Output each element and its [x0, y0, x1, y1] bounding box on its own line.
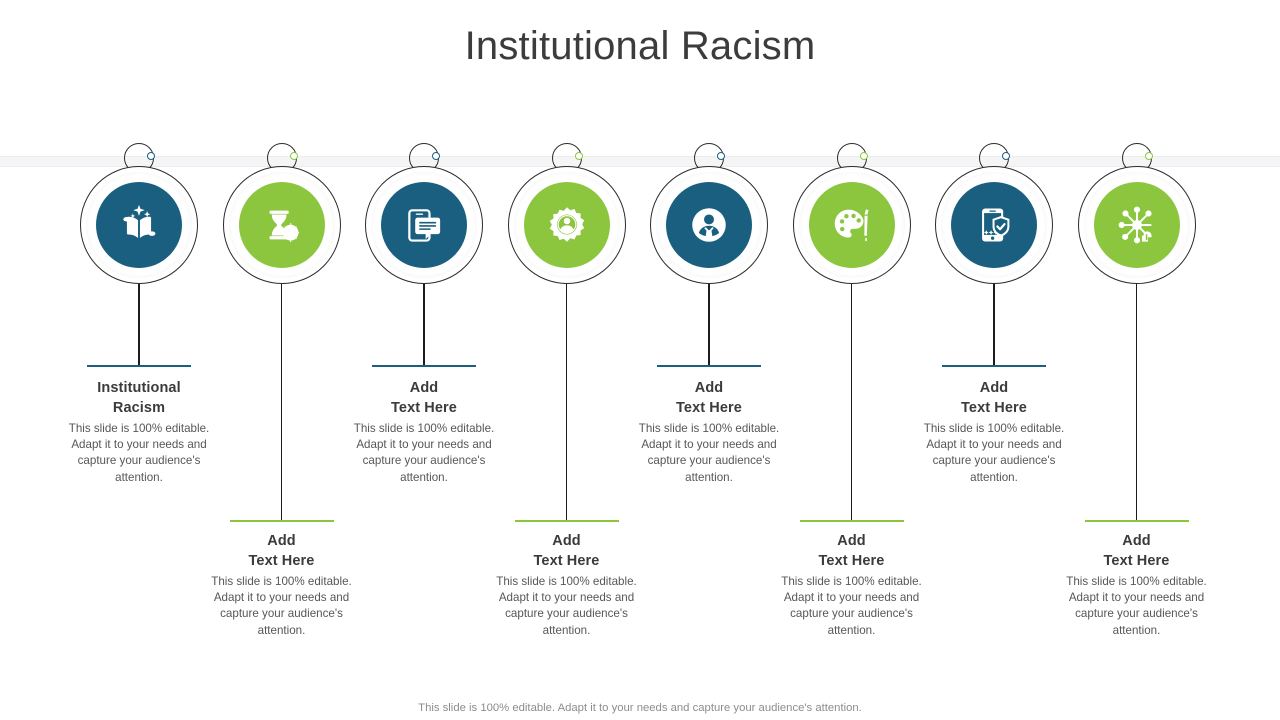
document-chat-icon: [402, 203, 446, 247]
accent-rule: [1085, 520, 1189, 522]
hook-dot-icon: [860, 152, 868, 160]
accent-rule: [942, 365, 1046, 367]
accent-rule: [515, 520, 619, 522]
connector-line: [1136, 272, 1137, 522]
accent-rule: [372, 365, 476, 367]
network-hub-icon: [1114, 202, 1160, 248]
palette-brush-icon: [829, 202, 875, 248]
book-sparkle-icon: [116, 202, 162, 248]
connector-line: [281, 272, 282, 522]
hook-dot-icon: [432, 152, 440, 160]
icon-disc-3[interactable]: [381, 182, 467, 268]
node-heading: Add Text Here: [1044, 532, 1230, 571]
accent-rule: [230, 520, 334, 522]
icon-disc-8[interactable]: [1094, 182, 1180, 268]
hourglass-alarm-icon: [259, 202, 305, 248]
connector-line: [566, 272, 567, 522]
gear-user-icon: [544, 202, 590, 248]
node-body-text: This slide is 100% editable. Adapt it to…: [1044, 574, 1230, 639]
icon-disc-1[interactable]: [96, 182, 182, 268]
infographic-node-8[interactable]: Add Text HereThis slide is 100% editable…: [1037, 0, 1237, 720]
connector-line: [138, 272, 139, 366]
accent-rule: [657, 365, 761, 367]
icon-disc-7[interactable]: [951, 182, 1037, 268]
accent-rule: [87, 365, 191, 367]
icon-disc-4[interactable]: [524, 182, 610, 268]
accent-rule: [800, 520, 904, 522]
icon-disc-6[interactable]: [809, 182, 895, 268]
hook-dot-icon: [1145, 152, 1153, 160]
hook-dot-icon: [717, 152, 725, 160]
icon-disc-5[interactable]: [666, 182, 752, 268]
icon-disc-2[interactable]: [239, 182, 325, 268]
mobile-shield-icon: [972, 203, 1016, 247]
hook-dot-icon: [147, 152, 155, 160]
hook-dot-icon: [575, 152, 583, 160]
connector-line: [708, 272, 709, 366]
hook-dot-icon: [1002, 152, 1010, 160]
footer-note: This slide is 100% editable. Adapt it to…: [0, 700, 1280, 716]
connector-line: [851, 272, 852, 522]
user-badge-icon: [686, 202, 732, 248]
hook-dot-icon: [290, 152, 298, 160]
connector-line: [423, 272, 424, 366]
connector-line: [993, 272, 994, 366]
text-block-8: Add Text HereThis slide is 100% editable…: [1044, 532, 1230, 639]
